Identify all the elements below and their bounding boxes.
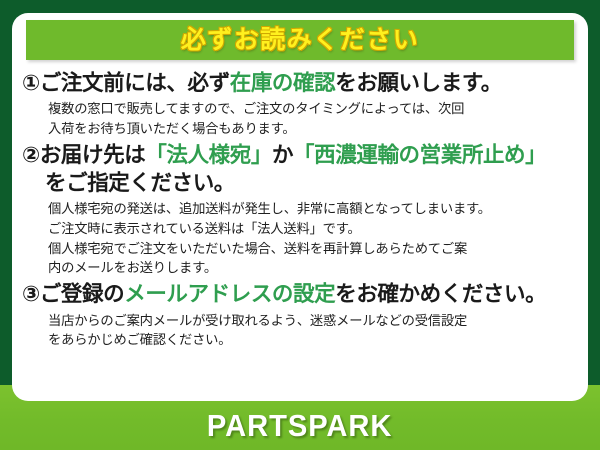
item-1-body-line-2: 入荷をお待ち頂いただく場合もあります。 xyxy=(48,119,580,139)
item-1-heading-highlight: 在庫の確認 xyxy=(230,71,336,95)
item-2-marker: ② xyxy=(22,143,40,167)
notice-card: 必ずお読みください ①ご注文前には、必ず在庫の確認をお願いします。 複数の窓口で… xyxy=(12,13,588,401)
item-3-body-line-1: 当店からのご案内メールが受け取れるよう、迷惑メールなどの受信設定 xyxy=(48,311,580,331)
item-3-body-line-2: をあらかじめご確認ください。 xyxy=(48,330,580,350)
notice-item-3: ③ご登録のメールアドレスの設定をお確かめください。 当店からのご案内メールが受け… xyxy=(22,280,580,350)
item-2-body-line-2: ご注文時に表示されている送料は「法人送料」です。 xyxy=(48,219,580,239)
item-3-body: 当店からのご案内メールが受け取れるよう、迷惑メールなどの受信設定 をあらかじめご… xyxy=(22,309,580,350)
item-3-heading-post: をお確かめください。 xyxy=(335,282,546,306)
item-2-body-line-1: 個人様宅宛の発送は、追加送料が発生し、非常に高額となってしまいます。 xyxy=(48,199,580,219)
item-1-body-line-1: 複数の窓口で販売してますので、ご注文のタイミングによっては、次回 xyxy=(48,99,580,119)
item-2-body-line-4: 内のメールをお送りします。 xyxy=(48,258,580,278)
notice-banner: 必ずお読みください ①ご注文前には、必ず在庫の確認をお願いします。 複数の窓口で… xyxy=(0,0,600,450)
header-bar: 必ずお読みください xyxy=(26,20,574,60)
item-1-heading-post: をお願いします。 xyxy=(335,71,502,95)
item-3-heading-pre: ご登録の xyxy=(40,282,124,306)
item-2-heading-highlight: 「法人様宛」 xyxy=(145,143,272,167)
item-1-body: 複数の窓口で販売してますので、ご注文のタイミングによっては、次回 入荷をお待ち頂… xyxy=(22,97,580,138)
item-3-marker: ③ xyxy=(22,282,40,306)
item-1-heading-pre: ご注文前には、必ず xyxy=(40,71,230,95)
notice-body: ①ご注文前には、必ず在庫の確認をお願いします。 複数の窓口で販売してますので、ご… xyxy=(12,65,588,352)
notice-item-2: ②お届け先は「法人様宛」か「西濃運輸の営業所止め」 をご指定ください。 個人様宅… xyxy=(22,141,580,278)
brand-logo-text: PARTSPARK xyxy=(207,408,392,444)
item-2-body-line-3: 個人様宅宛でご注文をいただいた場合、送料を再計算しあらためてご案 xyxy=(48,239,580,259)
page-title: 必ずお読みください xyxy=(181,28,420,53)
item-3-heading-highlight: メールアドレスの設定 xyxy=(124,282,335,306)
item-3-heading: ③ご登録のメールアドレスの設定をお確かめください。 xyxy=(22,280,580,308)
item-2-heading: ②お届け先は「法人様宛」か「西濃運輸の営業所止め」 xyxy=(22,141,580,169)
item-2-heading-mid: か xyxy=(272,143,293,167)
item-2-heading-continuation: をご指定ください。 xyxy=(22,169,580,197)
notice-item-1: ①ご注文前には、必ず在庫の確認をお願いします。 複数の窓口で販売してますので、ご… xyxy=(22,69,580,139)
item-1-marker: ① xyxy=(22,71,40,95)
item-2-heading-pre: お届け先は xyxy=(40,143,146,167)
item-2-heading-highlight-2: 「西濃運輸の営業所止め」 xyxy=(293,143,546,167)
item-1-heading: ①ご注文前には、必ず在庫の確認をお願いします。 xyxy=(22,69,580,97)
item-2-body: 個人様宅宛の発送は、追加送料が発生し、非常に高額となってしまいます。 ご注文時に… xyxy=(22,197,580,278)
footer-brand: PARTSPARK xyxy=(0,402,600,450)
